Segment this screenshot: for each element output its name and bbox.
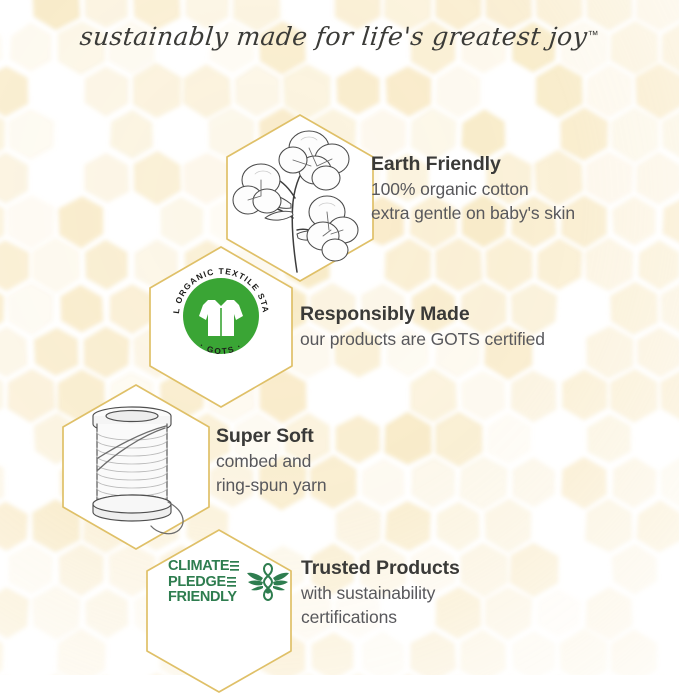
headline-text: sustainably made for life's greatest joy [79, 22, 589, 51]
feature-line: our products are GOTS certified [300, 328, 545, 351]
feature-text-earth-friendly: Earth Friendly 100% organic cotton extra… [371, 152, 575, 225]
hexagon-frame-trusted-products [142, 527, 296, 695]
page-headline: sustainably made for life's greatest joy… [0, 22, 679, 51]
feature-line: with sustainability [301, 582, 460, 605]
feature-title: Trusted Products [301, 556, 460, 580]
winged-hourglass-icon [246, 562, 290, 602]
feature-text-responsibly-made: Responsibly Made our products are GOTS c… [300, 302, 545, 352]
climate-pledge-wordmark: CLIMATE PLEDGE FRIENDLY [168, 559, 239, 605]
trademark-symbol: ™ [588, 30, 599, 42]
thread-spool-icon [75, 398, 199, 538]
cpf-line-2: PLEDGE [168, 575, 226, 590]
feature-text-trusted-products: Trusted Products with sustainability cer… [301, 556, 460, 629]
cpf-bars-icon [227, 576, 236, 588]
cpf-line-1: CLIMATE [168, 559, 229, 574]
feature-line: ring-spun yarn [216, 474, 326, 497]
feature-line: certifications [301, 606, 460, 629]
feature-line: extra gentle on baby's skin [371, 202, 575, 225]
climate-pledge-friendly-logo: CLIMATE PLEDGE FRIENDLY [168, 559, 290, 605]
feature-title: Earth Friendly [371, 152, 575, 176]
feature-title: Responsibly Made [300, 302, 545, 326]
feature-title: Super Soft [216, 424, 326, 448]
feature-text-super-soft: Super Soft combed and ring-spun yarn [216, 424, 326, 497]
feature-line: combed and [216, 450, 326, 473]
cpf-bars-icon [230, 560, 239, 572]
gots-organic-logo: GLOBAL ORGANIC TEXTILE STANDARD · GOTS · [163, 258, 279, 374]
feature-line: 100% organic cotton [371, 178, 575, 201]
cpf-line-3: FRIENDLY [168, 589, 237, 605]
cotton-branch-icon [231, 126, 371, 274]
